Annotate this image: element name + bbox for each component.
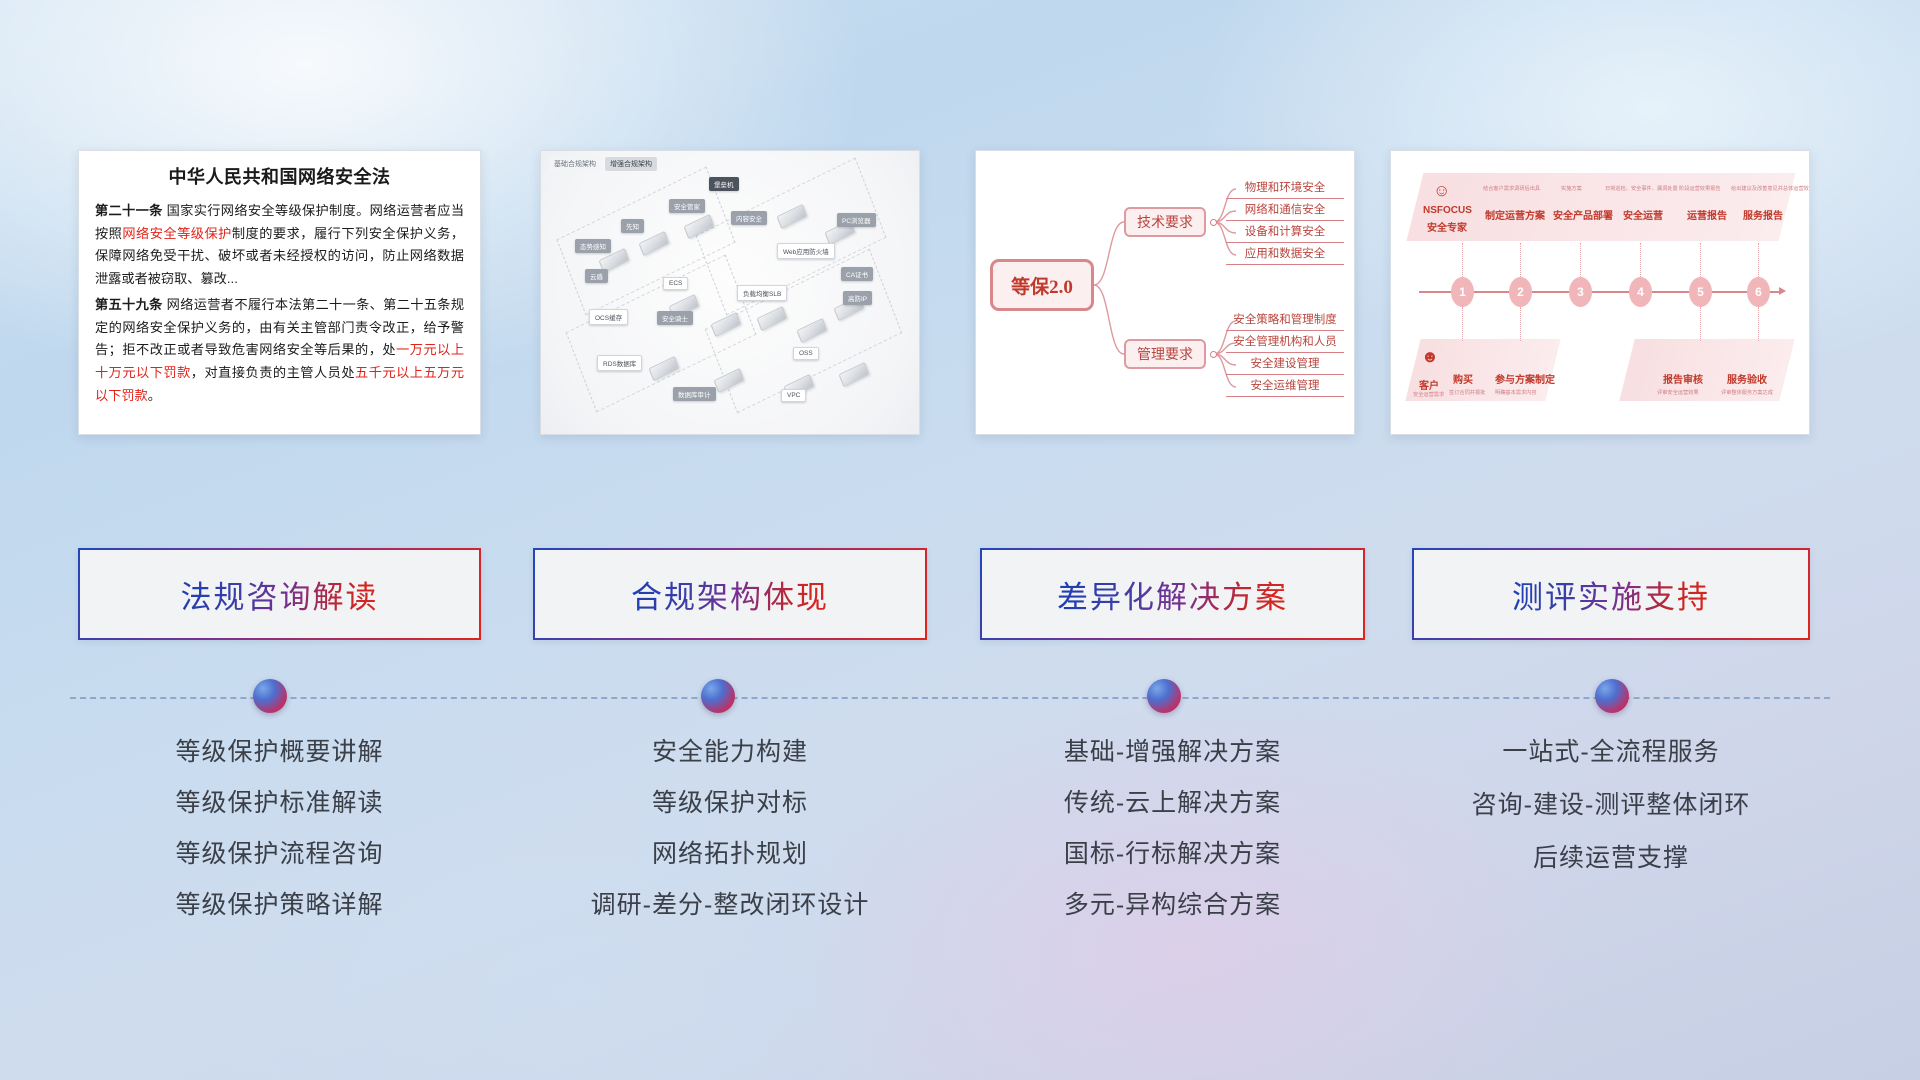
- pillar-label-3: 测评实施支持: [1512, 572, 1710, 617]
- detail-list-row: 等级保护概要讲解 等级保护标准解读 等级保护流程咨询 等级保护策略详解 安全能力…: [0, 740, 1920, 970]
- tab-enhanced-architecture[interactable]: 增强合规架构: [605, 157, 657, 171]
- card-cybersecurity-law[interactable]: 中华人民共和国网络安全法 第二十一条 国家实行网络安全等级保护制度。网络运营者应…: [78, 150, 481, 435]
- timeline-step-2: 2: [1509, 277, 1532, 307]
- law-title: 中华人民共和国网络安全法: [95, 163, 464, 189]
- list-item: 等级保护流程咨询: [78, 842, 481, 867]
- node-content-security: 内容安全: [731, 211, 767, 225]
- timeline-arrow-icon: [1779, 287, 1786, 295]
- mindmap-leaf-app-data: 应用和数据安全: [1226, 240, 1344, 265]
- timeline-tick: [1640, 243, 1641, 277]
- timeline-step-5: 5: [1689, 277, 1712, 307]
- tab-basic-architecture[interactable]: 基础合规架构: [549, 157, 601, 171]
- node-ocs-cache: OCS缓存: [589, 309, 628, 325]
- node-cloud-shield: 云盾: [585, 269, 608, 283]
- timeline-tick: [1758, 243, 1759, 277]
- br-phase-sub-1: 评审整体服务方案达成: [1721, 389, 1773, 396]
- pillar-compliance-architecture[interactable]: 合规架构体现: [533, 548, 927, 640]
- bl-phase-sub-0: 签订合同并报批: [1449, 389, 1485, 396]
- timeline-tick: [1700, 243, 1701, 277]
- node-db-audit: 数据库审计: [673, 387, 716, 401]
- nsfocus-brand-sub: 安全专家: [1427, 219, 1467, 234]
- node-slb: 负载均衡SLB: [737, 285, 787, 301]
- phase-title-3: 运营报告: [1687, 207, 1727, 222]
- mindmap-branch-management: 管理要求: [1124, 339, 1206, 369]
- phase-sub-4: 给出建议及改善意见并总体运营效果: [1731, 185, 1810, 192]
- pillar-differentiated-solution[interactable]: 差异化解决方案: [980, 548, 1365, 640]
- pillar-label-2: 差异化解决方案: [1057, 572, 1288, 617]
- thumbnail-card-row: 中华人民共和国网络安全法 第二十一条 国家实行网络安全等级保护制度。网络运营者应…: [0, 150, 1920, 440]
- detail-list-solution: 基础-增强解决方案 传统-云上解决方案 国标-行标解决方案 多元-异构综合方案: [980, 740, 1365, 944]
- pillar-assessment-support[interactable]: 测评实施支持: [1412, 548, 1810, 640]
- architecture-diagram: 基础合规架构 增强合规架构: [541, 151, 919, 434]
- nsfocus-brand: NSFOCUS: [1423, 205, 1472, 216]
- timeline-step-1: 1: [1451, 277, 1474, 307]
- mindmap-node-dot: [1210, 219, 1217, 226]
- customer-person-icon: ☻: [1421, 347, 1439, 367]
- node-ecs: ECS: [663, 277, 688, 290]
- phase-title-0: 制定运营方案: [1485, 207, 1545, 222]
- list-item: 等级保护概要讲解: [78, 740, 481, 765]
- bl-phase-sub-1: 明确基本需求内容: [1495, 389, 1537, 396]
- article-59-text-c: 。: [148, 388, 161, 403]
- list-item: 多元-异构综合方案: [980, 893, 1365, 918]
- rail-dot-2[interactable]: [701, 679, 735, 713]
- list-item: 咨询-建设-测评整体闭环: [1412, 793, 1810, 818]
- list-item: 等级保护策略详解: [78, 893, 481, 918]
- phase-sub-2: 日常巡检、安全事件、漏洞处置: [1605, 185, 1678, 192]
- timeline-tick: [1462, 243, 1463, 277]
- pillar-regulation-consulting[interactable]: 法规咨询解读: [78, 548, 481, 640]
- list-item: 传统-云上解决方案: [980, 791, 1365, 816]
- bl-phase-title-0: 购买: [1453, 371, 1473, 386]
- nsfocus-timeline: ☺ NSFOCUS 安全专家 结合客户需求调研后出具 制定运营方案 实施方案 安…: [1391, 151, 1809, 434]
- node-security-knight: 安全骑士: [657, 311, 693, 325]
- list-item: 调研-差分-整改闭环设计: [533, 893, 927, 918]
- list-item: 国标-行标解决方案: [980, 842, 1365, 867]
- pillar-row: 法规咨询解读 合规架构体现 差异化解决方案 测评实施支持: [0, 548, 1920, 648]
- customer-sub: 安全运营需求: [1413, 391, 1444, 398]
- list-item: 一站式-全流程服务: [1412, 740, 1810, 765]
- timeline-tick: [1520, 243, 1521, 277]
- list-item: 后续运营支撑: [1412, 846, 1810, 871]
- detail-list-assessment: 一站式-全流程服务 咨询-建设-测评整体闭环 后续运营支撑: [1412, 740, 1810, 899]
- timeline-step-4: 4: [1629, 277, 1652, 307]
- timeline-tick: [1520, 307, 1521, 341]
- pillar-label-0: 法规咨询解读: [181, 572, 379, 617]
- timeline-step-3: 3: [1569, 277, 1592, 307]
- server-block: [839, 362, 870, 387]
- node-pc-browser: PC浏览器: [837, 213, 876, 227]
- card-nsfocus-timeline[interactable]: ☺ NSFOCUS 安全专家 结合客户需求调研后出具 制定运营方案 实施方案 安…: [1390, 150, 1810, 435]
- phase-sub-1: 实施方案: [1561, 185, 1582, 192]
- node-situational-awareness: 态势感知: [575, 239, 611, 253]
- timeline-rail: [70, 697, 1830, 699]
- node-bastion-host: 堡垒机: [709, 177, 739, 191]
- list-item: 基础-增强解决方案: [980, 740, 1365, 765]
- node-security-butler: 安全管家: [669, 199, 705, 213]
- phase-sub-3: 阶段运营效果报告: [1679, 185, 1721, 192]
- pillar-label-1: 合规架构体现: [631, 572, 829, 617]
- br-phase-sub-0: 评审安全运营效果: [1657, 389, 1699, 396]
- node-oss: OSS: [793, 347, 819, 360]
- expert-person-icon: ☺: [1433, 181, 1450, 201]
- detail-list-regulation: 等级保护概要讲解 等级保护标准解读 等级保护流程咨询 等级保护策略详解: [78, 740, 481, 944]
- article-59-text-b: ，对直接负责的主管人员处: [191, 365, 355, 380]
- phase-sub-0: 结合客户需求调研后出具: [1483, 185, 1540, 192]
- timeline-tick: [1758, 307, 1759, 341]
- list-item: 等级保护对标: [533, 791, 927, 816]
- architecture-tabs: 基础合规架构 增强合规架构: [549, 157, 657, 171]
- node-waf: Web应用防火墙: [777, 243, 835, 259]
- timeline-tick: [1462, 307, 1463, 341]
- phase-title-1: 安全产品部署: [1553, 207, 1613, 222]
- mindmap-root: 等保2.0: [990, 259, 1094, 311]
- rail-dot-1[interactable]: [253, 679, 287, 713]
- law-document: 中华人民共和国网络安全法 第二十一条 国家实行网络安全等级保护制度。网络运营者应…: [79, 151, 480, 418]
- list-item: 安全能力构建: [533, 740, 927, 765]
- br-phase-title-0: 报告审核: [1663, 371, 1703, 386]
- node-anti-ddos-ip: 高防IP: [843, 291, 872, 305]
- phase-title-4: 服务报告: [1743, 207, 1783, 222]
- list-item: 网络拓扑规划: [533, 842, 927, 867]
- slide-canvas: 中华人民共和国网络安全法 第二十一条 国家实行网络安全等级保护制度。网络运营者应…: [0, 0, 1920, 1080]
- mindmap-leaf-ops-mgmt: 安全运维管理: [1226, 372, 1344, 397]
- timeline-tick: [1580, 243, 1581, 277]
- article-59-label: 第五十九条: [95, 297, 163, 312]
- node-xianzhi: 先知: [621, 219, 644, 233]
- timeline-tick: [1700, 307, 1701, 341]
- br-phase-title-1: 服务验收: [1727, 371, 1767, 386]
- bl-phase-title-1: 参与方案制定: [1495, 371, 1555, 386]
- mindmap-branch-technical: 技术要求: [1124, 207, 1206, 237]
- phase-title-2: 安全运营: [1623, 207, 1663, 222]
- law-article-21: 第二十一条 国家实行网络安全等级保护制度。网络运营者应当按照网络安全等级保护制度…: [95, 200, 464, 291]
- customer-label: 客户: [1419, 377, 1439, 392]
- mindmap: 等保2.0 技术要求 物理和环境安全 网络和通信安全 设备和计算安全 应用和数据…: [976, 151, 1354, 434]
- detail-list-architecture: 安全能力构建 等级保护对标 网络拓扑规划 调研-差分-整改闭环设计: [533, 740, 927, 944]
- node-ca-certificate: CA证书: [841, 267, 873, 281]
- card-mindmap-dengbao[interactable]: 等保2.0 技术要求 物理和环境安全 网络和通信安全 设备和计算安全 应用和数据…: [975, 150, 1355, 435]
- mindmap-node-dot: [1210, 351, 1217, 358]
- timeline-step-6: 6: [1747, 277, 1770, 307]
- law-article-59: 第五十九条 网络运营者不履行本法第二十一条、第二十五条规定的网络安全保护义务的，…: [95, 294, 464, 408]
- rail-dot-4[interactable]: [1595, 679, 1629, 713]
- card-compliance-architecture[interactable]: 基础合规架构 增强合规架构: [540, 150, 920, 435]
- node-rds-database: RDS数据库: [597, 355, 642, 371]
- article-21-label: 第二十一条: [95, 203, 163, 218]
- list-item: 等级保护标准解读: [78, 791, 481, 816]
- node-vpc: VPC: [781, 389, 806, 402]
- rail-dot-3[interactable]: [1147, 679, 1181, 713]
- article-21-highlight: 网络安全等级保护: [122, 226, 231, 241]
